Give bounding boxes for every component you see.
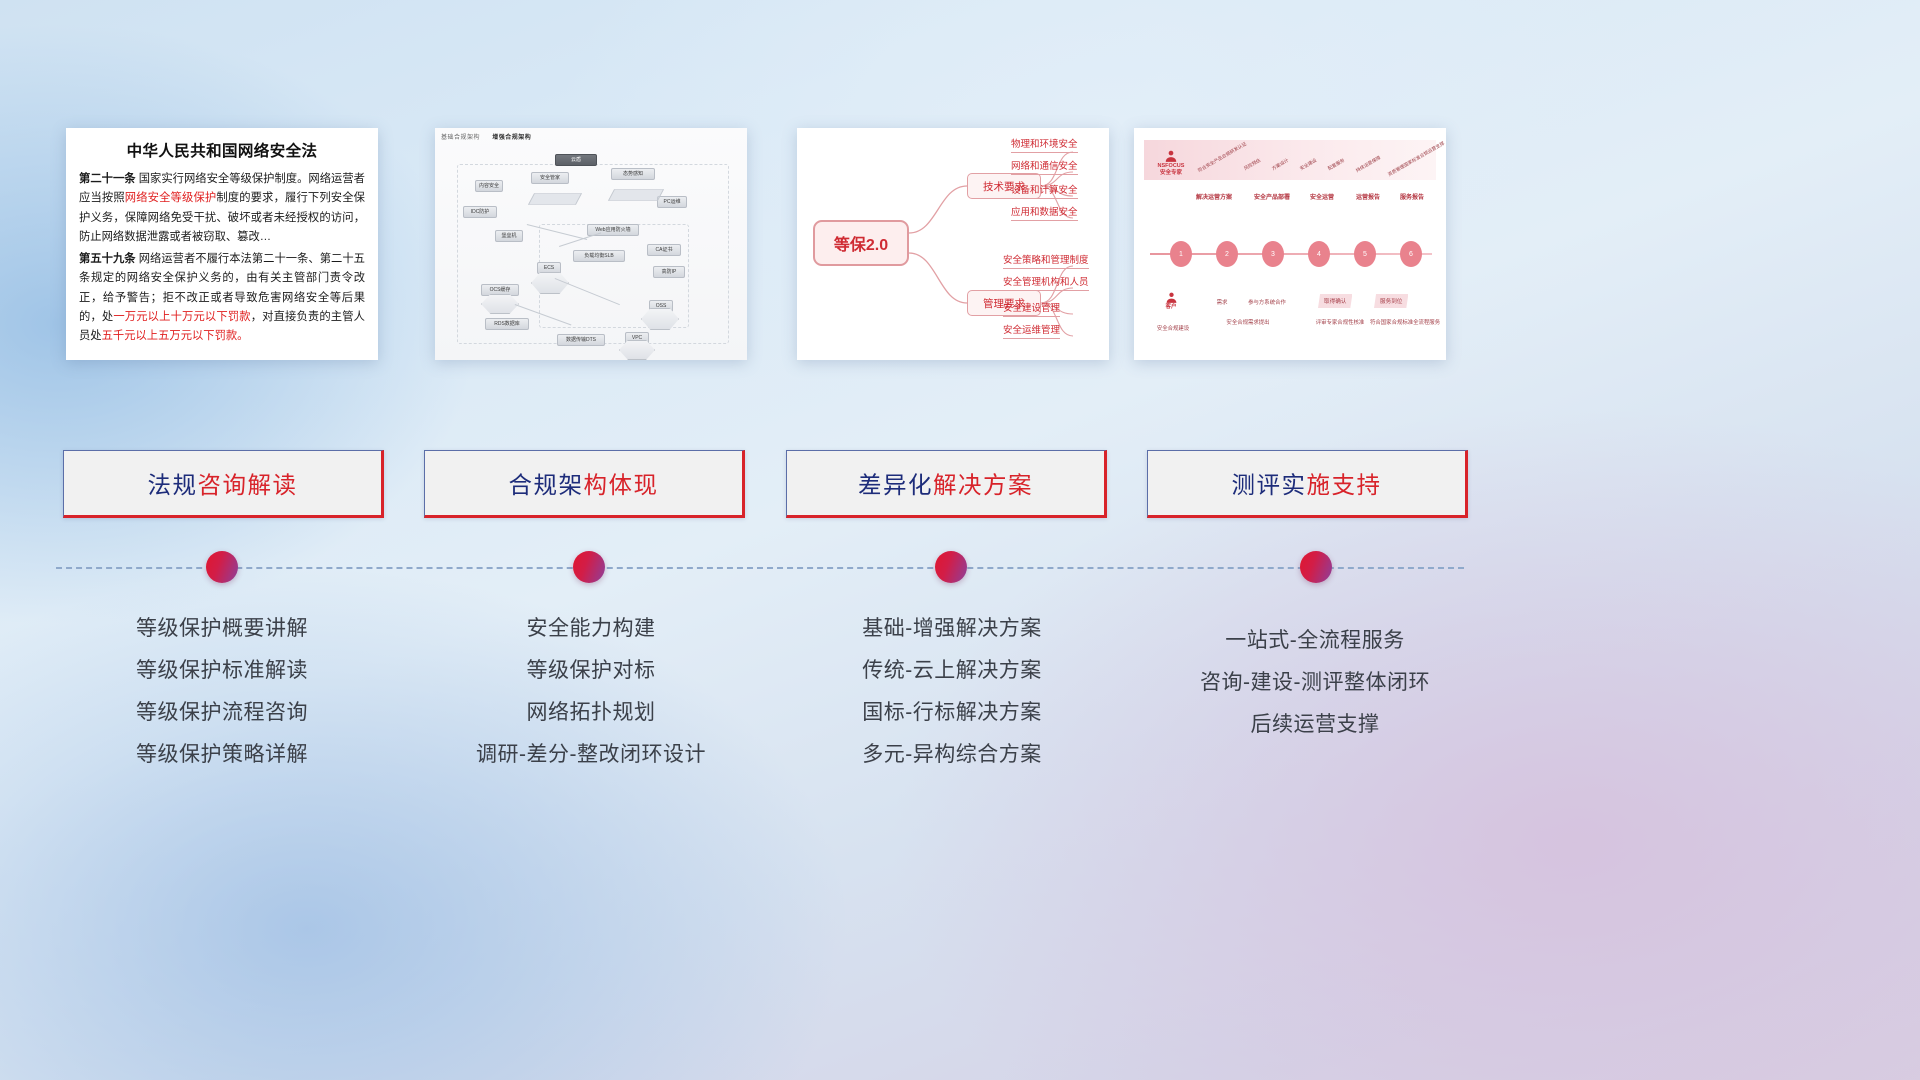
- architecture-plate-1: [528, 193, 582, 204]
- section-title-1-red: 咨询解读: [198, 466, 298, 500]
- nsfocus-timeline-axis: [1150, 253, 1432, 255]
- nsfocus-step-4: 4: [1308, 241, 1330, 267]
- architecture-node-neirong: 内容安全: [475, 180, 503, 192]
- nsfocus-brand-sub: 安全专家: [1160, 170, 1182, 177]
- nsfocus-step-5: 5: [1354, 241, 1376, 267]
- law-article-59: 第五十九条 网络运营者不履行本法第二十一条、第二十五条规定的网络安全保护义务的，…: [79, 250, 365, 347]
- mindmap-leaf-m3: 安全运维管理: [1003, 326, 1060, 339]
- list-item: 后续运营支撑: [1150, 704, 1480, 746]
- nsfocus-step-3: 3: [1262, 241, 1284, 267]
- card-nsfocus-service-flow: NSFOCUS 安全专家 符合安全产品合规研发认证 风险预估 方案设计 安全建设…: [1134, 128, 1446, 360]
- law-document: 中华人民共和国网络安全法 第二十一条 国家实行网络安全等级保护制度。网络运营者应…: [66, 128, 378, 347]
- section-title-4-blue: 测评实: [1232, 466, 1307, 500]
- law-article-59-run-1: 一万元以上十万元以下罚款: [113, 311, 250, 323]
- list-item: 安全能力构建: [426, 608, 756, 650]
- timeline-dot-2[interactable]: [573, 551, 605, 583]
- architecture-tabs: 基础合规架构 增强合规架构: [441, 132, 541, 141]
- architecture-node-pc: PC运维: [657, 196, 687, 208]
- nsfocus-note-1: 符合国家合规标准全流程服务: [1370, 318, 1436, 326]
- nsfocus-customer-icon-group: 客户: [1148, 286, 1194, 316]
- list-item: 咨询-建设-测评整体闭环: [1150, 662, 1480, 704]
- person-icon: [1164, 149, 1178, 163]
- list-item: 等级保护策略详解: [57, 734, 387, 776]
- list-item: 传统-云上解决方案: [787, 650, 1117, 692]
- list-item: 基础-增强解决方案: [787, 608, 1117, 650]
- timeline-dot-3[interactable]: [935, 551, 967, 583]
- nsfocus-footnote-0: 安全合规建设: [1148, 324, 1198, 332]
- nsfocus-pill-3: 运营报告: [1356, 192, 1380, 201]
- section-title-2-blue: 合规架: [509, 466, 584, 500]
- nsfocus-step-2: 2: [1216, 241, 1238, 267]
- mindmap-leaf-t3: 应用和数据安全: [1011, 208, 1078, 221]
- law-article-59-label: 第五十九条: [79, 253, 136, 265]
- section-list-3: 基础-增强解决方案 传统-云上解决方案 国标-行标解决方案 多元-异构综合方案: [787, 608, 1117, 776]
- mindmap: 等保2.0 技术要求 管理要求 物理和环境安全 网络和通信安全 设备和计算安全 …: [797, 128, 1109, 360]
- list-item: 国标-行标解决方案: [787, 692, 1117, 734]
- nsfocus-pill-4: 服务报告: [1400, 192, 1424, 201]
- list-item: 网络拓扑规划: [426, 692, 756, 734]
- list-item: 一站式-全流程服务: [1150, 620, 1480, 662]
- architecture-node-idc: IDC防护: [463, 206, 497, 218]
- mindmap-leaf-t1: 网络和通信安全: [1011, 162, 1078, 175]
- mindmap-root: 等保2.0: [813, 220, 909, 266]
- law-article-21: 第二十一条 国家实行网络安全等级保护制度。网络运营者应当按照网络安全等级保护制度…: [79, 170, 365, 248]
- slide-canvas: 中华人民共和国网络安全法 第二十一条 国家实行网络安全等级保护制度。网络运营者应…: [0, 0, 1920, 1080]
- section-title-box-4[interactable]: 测评实施支持: [1147, 450, 1468, 518]
- nsfocus-pill-0: 解决运营方案: [1196, 192, 1232, 201]
- nsfocus-pill-1: 安全产品部署: [1254, 192, 1290, 201]
- architecture-node-taishiganzhi: 态势感知: [611, 168, 655, 180]
- law-document-title: 中华人民共和国网络安全法: [79, 139, 365, 161]
- section-title-box-3[interactable]: 差异化解决方案: [786, 450, 1107, 518]
- law-article-21-label: 第二十一条: [79, 173, 136, 185]
- nsfocus-footnote-3: 安全合规需求提出: [1200, 318, 1296, 326]
- nsfocus-flow: NSFOCUS 安全专家 符合安全产品合规研发认证 风险预估 方案设计 安全建设…: [1134, 128, 1446, 360]
- section-title-2-red: 构体现: [584, 466, 659, 500]
- mindmap-leaf-t0: 物理和环境安全: [1011, 140, 1078, 153]
- nsfocus-note-0: 评审专家合规性核准: [1310, 318, 1370, 326]
- architecture-node-baoleiji: 堡垒机: [495, 230, 523, 242]
- list-item: 等级保护概要讲解: [57, 608, 387, 650]
- mindmap-leaf-t2: 设备和计算安全: [1011, 186, 1078, 199]
- nsfocus-tag-1: 服务到位: [1374, 294, 1408, 308]
- mindmap-leaf-m0: 安全策略和管理制度: [1003, 256, 1089, 269]
- section-list-4: 一站式-全流程服务 咨询-建设-测评整体闭环 后续运营支撑: [1150, 620, 1480, 746]
- section-list-1: 等级保护概要讲解 等级保护标准解读 等级保护流程咨询 等级保护策略详解: [57, 608, 387, 776]
- section-title-3-red: 解决方案: [933, 466, 1033, 500]
- timeline-dot-1[interactable]: [206, 551, 238, 583]
- list-item: 调研-差分-整改闭环设计: [426, 734, 756, 776]
- nsfocus-brand: NSFOCUS 安全专家: [1148, 142, 1194, 184]
- list-item: 等级保护标准解读: [57, 650, 387, 692]
- architecture-tab-enhanced[interactable]: 增强合规架构: [492, 135, 531, 141]
- section-title-box-2[interactable]: 合规架构体现: [424, 450, 745, 518]
- section-title-3-blue: 差异化: [858, 466, 933, 500]
- architecture-node-yundun: 云盾: [555, 154, 597, 166]
- nsfocus-tag-0: 取得确认: [1318, 294, 1352, 308]
- section-title-box-1[interactable]: 法规咨询解读: [63, 450, 384, 518]
- architecture-node-gaofangip: 高防IP: [653, 266, 685, 278]
- section-title-1-blue: 法规: [148, 466, 198, 500]
- law-article-21-run-1: 网络安全等级保护: [125, 192, 217, 204]
- law-article-59-run-3: 五千元以上五万元以下罚款。: [102, 330, 249, 342]
- architecture-diagram: 基础合规架构 增强合规架构 云盾 安全管家 态势感知 内容安全 PC运维 IDC…: [435, 128, 747, 360]
- nsfocus-pill-2: 安全运营: [1310, 192, 1334, 201]
- nsfocus-footnote-1: 需求: [1202, 298, 1242, 306]
- architecture-plate-2: [608, 189, 664, 200]
- card-compliance-architecture: 基础合规架构 增强合规架构 云盾 安全管家 态势感知 内容安全 PC运维 IDC…: [435, 128, 747, 360]
- architecture-node-dts: 数据传输DTS: [557, 334, 605, 346]
- architecture-node-ca: CA证书: [647, 244, 681, 256]
- nsfocus-footnote-2: 参与方系统合作: [1240, 298, 1294, 306]
- card-cybersecurity-law: 中华人民共和国网络安全法 第二十一条 国家实行网络安全等级保护制度。网络运营者应…: [66, 128, 378, 360]
- customer-icon: [1165, 291, 1178, 304]
- architecture-node-slb: 负载均衡SLB: [573, 250, 625, 262]
- list-item: 多元-异构综合方案: [787, 734, 1117, 776]
- section-list-2: 安全能力构建 等级保护对标 网络拓扑规划 调研-差分-整改闭环设计: [426, 608, 756, 776]
- nsfocus-brand-name: NSFOCUS: [1158, 163, 1185, 170]
- section-title-4-red: 施支持: [1307, 466, 1382, 500]
- list-item: 等级保护对标: [426, 650, 756, 692]
- architecture-tab-basic[interactable]: 基础合规架构: [441, 135, 480, 141]
- mindmap-leaf-m2: 安全建设管理: [1003, 304, 1060, 317]
- timeline-dashed-line: [56, 567, 1464, 569]
- architecture-node-anquanguanjia: 安全管家: [531, 172, 569, 184]
- architecture-node-rds: RDS数据库: [485, 318, 529, 330]
- nsfocus-step-1: 1: [1170, 241, 1192, 267]
- mindmap-leaf-m1: 安全管理机构和人员: [1003, 278, 1089, 291]
- nsfocus-customer-label: 客户: [1165, 304, 1176, 311]
- timeline-dot-4[interactable]: [1300, 551, 1332, 583]
- nsfocus-step-6: 6: [1400, 241, 1422, 267]
- list-item: 等级保护流程咨询: [57, 692, 387, 734]
- card-mps2-mindmap: 等保2.0 技术要求 管理要求 物理和环境安全 网络和通信安全 设备和计算安全 …: [797, 128, 1109, 360]
